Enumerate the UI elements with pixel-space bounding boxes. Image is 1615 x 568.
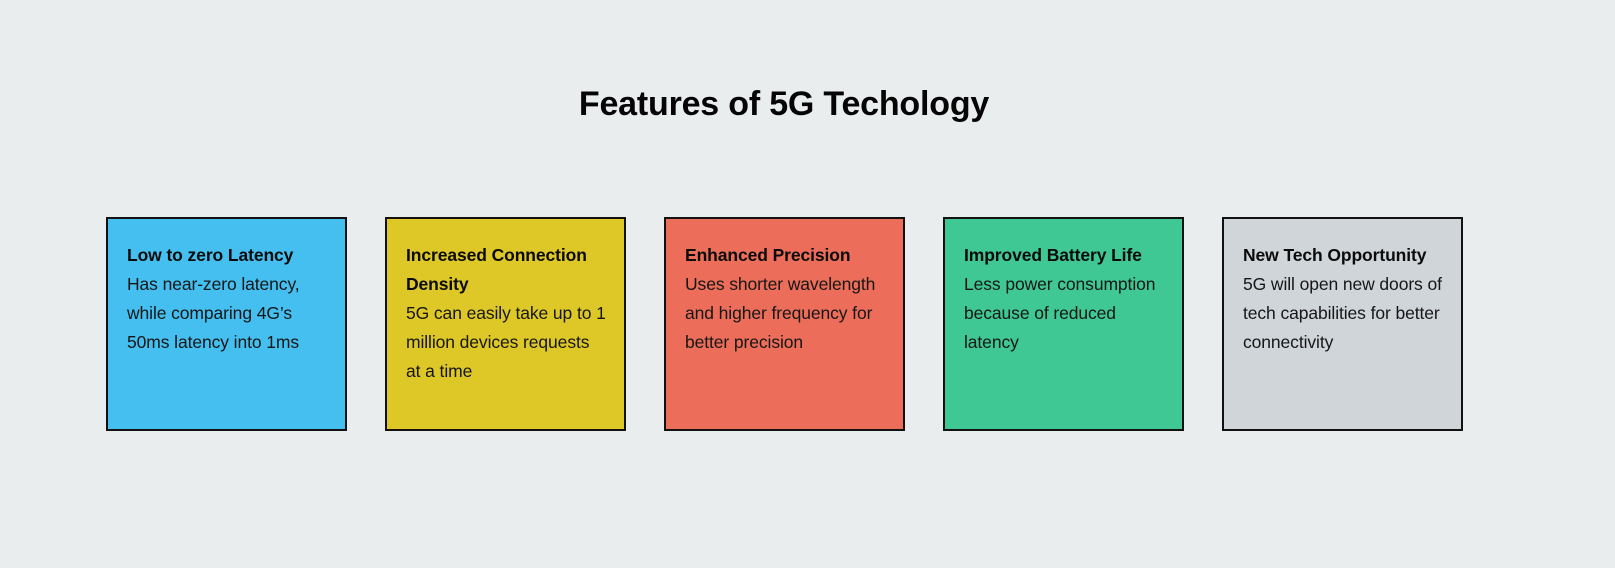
feature-card-title: Enhanced Precision [685,241,885,270]
page-title: Features of 5G Techology [0,82,1568,126]
feature-card-body: 5G can easily take up to 1 million devic… [406,299,606,386]
feature-card[interactable]: New Tech Opportunity 5G will open new do… [1222,217,1463,431]
feature-card[interactable]: Low to zero Latency Has near-zero latenc… [106,217,347,431]
feature-card[interactable]: Increased Connection Density 5G can easi… [385,217,626,431]
feature-card-body: Has near-zero latency, while comparing 4… [127,270,327,357]
feature-card-body: Uses shorter wavelength and higher frequ… [685,270,885,357]
feature-card-title: Increased Connection Density [406,241,606,299]
feature-card[interactable]: Enhanced Precision Uses shorter waveleng… [664,217,905,431]
feature-card-title: New Tech Opportunity [1243,241,1443,270]
feature-card-body: 5G will open new doors of tech capabilit… [1243,270,1443,357]
feature-card-title: Low to zero Latency [127,241,327,270]
feature-card[interactable]: Improved Battery Life Less power consump… [943,217,1184,431]
slide-canvas: Features of 5G Techology Low to zero Lat… [0,0,1615,568]
feature-card-title: Improved Battery Life [964,241,1164,270]
feature-cards-row: Low to zero Latency Has near-zero latenc… [106,217,1463,431]
feature-card-body: Less power consumption because of reduce… [964,270,1164,357]
